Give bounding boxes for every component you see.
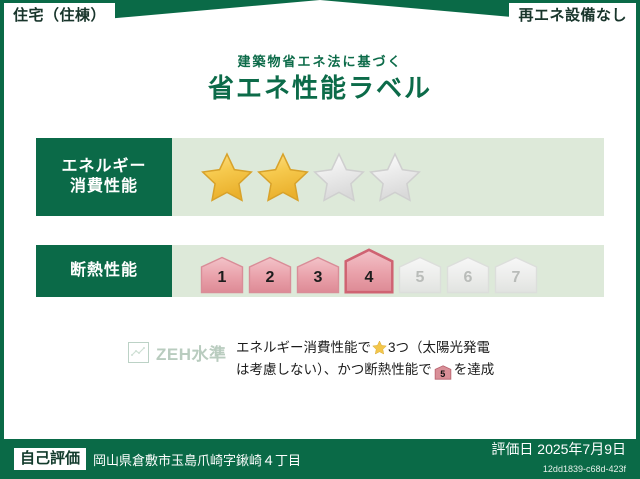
insulation-levels-area: 1234567 <box>172 245 604 297</box>
evaluation-id: 12dd1839-c68d-423f <box>543 464 626 474</box>
zeh-label-group: ZEH水準 <box>36 336 236 365</box>
insulation-level-scale: 1234567 <box>200 248 538 294</box>
star-filled-icon <box>256 151 310 203</box>
building-type-badge: 住宅（住棟） <box>4 3 115 29</box>
energy-performance-row: エネルギー 消費性能 <box>36 138 604 216</box>
inline-house-level-icon: 5 <box>434 365 452 380</box>
energy-stars-area <box>172 138 604 216</box>
star-empty-icon <box>312 151 366 203</box>
evaluation-date: 評価日 2025年7月9日 <box>491 441 626 457</box>
page-title: 省エネ性能ラベル <box>0 75 640 101</box>
star-filled-icon <box>200 151 254 203</box>
insulation-level-3: 3 <box>296 256 340 294</box>
zeh-desc-part3: は考慮しない）、かつ断熱性能で <box>236 362 432 377</box>
title-block: 建築物省エネ法に基づく 省エネ性能ラベル <box>0 55 640 101</box>
energy-performance-label: 住宅（住棟） 再エネ設備なし 建築物省エネ法に基づく 省エネ性能ラベル エネルギ… <box>0 0 640 479</box>
evaluation-meta: 評価日 2025年7月9日 12dd1839-c68d-423f <box>491 441 626 478</box>
insulation-performance-row: 断熱性能 1234567 <box>36 245 604 297</box>
insulation-level-6: 6 <box>446 256 490 294</box>
insulation-level-value: 2 <box>266 269 275 294</box>
renewable-equipment-badge: 再エネ設備なし <box>509 3 636 29</box>
inline-star-icon <box>372 340 387 355</box>
zeh-desc-part2: 3つ（太陽光発電 <box>388 340 490 355</box>
inline-house-level-value: 5 <box>440 369 445 379</box>
zeh-desc-part1: エネルギー消費性能で <box>236 340 371 355</box>
zeh-description: エネルギー消費性能で 3つ（太陽光発電は考慮しない）、かつ断熱性能で 5を達成 <box>236 336 604 382</box>
star-rating <box>200 151 422 203</box>
energy-performance-label-box: エネルギー 消費性能 <box>36 138 172 216</box>
insulation-level-value: 3 <box>314 269 323 294</box>
insulation-level-1: 1 <box>200 256 244 294</box>
energy-label-line1: エネルギー <box>61 157 146 177</box>
insulation-level-value: 7 <box>512 269 521 294</box>
insulation-level-7: 7 <box>494 256 538 294</box>
insulation-level-value: 1 <box>218 269 227 294</box>
footer: 自己評価 岡山県倉敷市玉島爪崎字鍬崎４丁目 評価日 2025年7月9日 12dd… <box>0 439 640 479</box>
zeh-checkbox-icon <box>128 342 149 363</box>
self-evaluation-badge: 自己評価 <box>14 448 86 470</box>
insulation-level-value: 6 <box>464 269 473 294</box>
insulation-level-4: 4 <box>344 248 394 294</box>
insulation-level-5: 5 <box>398 256 442 294</box>
property-address: 岡山県倉敷市玉島爪崎字鍬崎４丁目 <box>93 450 301 469</box>
star-empty-icon <box>368 151 422 203</box>
zeh-desc-part4: を達成 <box>454 362 495 377</box>
insulation-performance-label-box: 断熱性能 <box>36 245 172 297</box>
insulation-level-value: 4 <box>365 269 374 294</box>
insulation-level-value: 5 <box>416 269 425 294</box>
zeh-label: ZEH水準 <box>156 340 227 365</box>
zeh-standard-block: ZEH水準 エネルギー消費性能で 3つ（太陽光発電は考慮しない）、かつ断熱性能で… <box>36 336 604 382</box>
title-subtitle: 建築物省エネ法に基づく <box>0 55 640 68</box>
insulation-level-2: 2 <box>248 256 292 294</box>
insulation-label: 断熱性能 <box>70 261 138 281</box>
energy-label-line2: 消費性能 <box>70 177 138 197</box>
